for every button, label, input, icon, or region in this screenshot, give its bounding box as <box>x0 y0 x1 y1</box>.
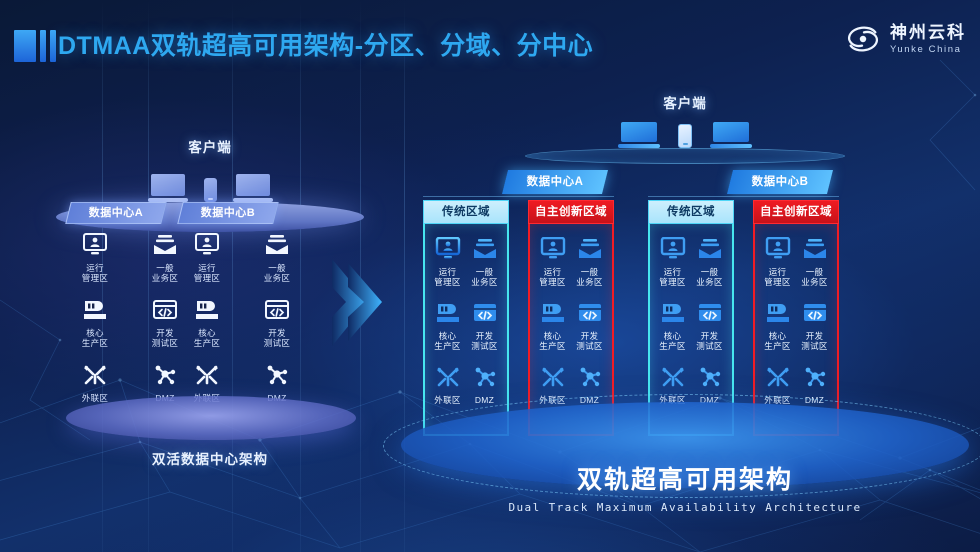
zone-label-line1: 核心 <box>86 328 104 338</box>
caption-en: Dual Track Maximum Availability Architec… <box>395 501 975 514</box>
caption-cn: 双轨超高可用架构 <box>395 460 975 496</box>
zone-label-line1: 开发 <box>476 331 494 341</box>
document-tray-icon <box>466 234 503 264</box>
phone-icon <box>678 124 692 148</box>
right-client-label: 客户端 <box>395 92 975 112</box>
zone-label-line2: 管理区 <box>659 277 685 287</box>
datacenter-b-bracket <box>648 196 839 197</box>
zone-item[interactable]: 核心生产区 <box>172 295 242 348</box>
zone-label-line1: 核心 <box>769 331 787 341</box>
zone-label-line2: 业务区 <box>801 277 827 287</box>
zone-label-line2: 生产区 <box>434 341 460 351</box>
zone-label-line2: 生产区 <box>539 341 565 351</box>
left-datacenter-badge-b-label: 数据中心B <box>181 203 275 223</box>
zone-item[interactable]: 核心生产区 <box>759 298 796 351</box>
zone-label-line1: 一般 <box>806 267 824 277</box>
zone-item[interactable]: 开发测试区 <box>691 298 728 351</box>
molecule-dmz-icon <box>796 362 833 392</box>
molecule-dmz-icon <box>571 362 608 392</box>
laptop-icon <box>618 122 660 148</box>
zone-label-line2: 测试区 <box>471 341 497 351</box>
zone-label-line1: 核心 <box>439 331 457 341</box>
zone-label-line2: 测试区 <box>264 338 290 348</box>
zone-label-line1: 外联区 <box>82 393 108 403</box>
molecule-dmz-icon <box>242 360 312 390</box>
zone-label-line1: 一般 <box>268 263 286 273</box>
zone-item[interactable]: 运行管理区 <box>172 230 242 283</box>
zone-item[interactable]: DMZ <box>466 362 503 405</box>
phone-icon <box>204 178 217 202</box>
zone-label-line1: 运行 <box>544 267 562 277</box>
server-core-icon <box>759 298 796 328</box>
zone-label-line1: 核心 <box>664 331 682 341</box>
zone-item[interactable]: 运行管理区 <box>534 234 571 287</box>
panel-traditional-dc-a[interactable]: 传统区域 运行管理区 一般业务区 <box>423 200 509 436</box>
zone-item[interactable]: 外联区 <box>60 360 130 403</box>
zone-label-line2: 业务区 <box>576 277 602 287</box>
network-link-icon <box>60 360 130 390</box>
zone-label-line1: 运行 <box>198 263 216 273</box>
right-datacenter-badge-a[interactable]: 数据中心A <box>505 170 605 194</box>
monitor-user-icon <box>172 230 242 260</box>
zone-item[interactable]: 运行管理区 <box>759 234 796 287</box>
zone-label-line2: 测试区 <box>696 341 722 351</box>
zone-label-line1: DMZ <box>475 395 494 405</box>
zone-label-line1: 核心 <box>544 331 562 341</box>
server-core-icon <box>172 295 242 325</box>
zone-label-line1: 开发 <box>806 331 824 341</box>
datacenter-a-bracket <box>423 196 614 197</box>
right-client-platform-ellipse <box>525 148 845 164</box>
network-link-icon <box>429 362 466 392</box>
page-title: DTMAA双轨超高可用架构-分区、分域、分中心 <box>58 26 593 62</box>
left-datacenter-badges: 数据中心A 数据中心B <box>60 202 360 226</box>
panel-title: 传统区域 <box>423 200 509 224</box>
zone-label-line1: 运行 <box>769 267 787 277</box>
code-window-icon <box>691 298 728 328</box>
document-tray-icon <box>691 234 728 264</box>
monitor-user-icon <box>654 234 691 264</box>
zone-item[interactable]: 一般业务区 <box>466 234 503 287</box>
code-window-icon <box>242 295 312 325</box>
zone-label-line2: 管理区 <box>764 277 790 287</box>
zone-label-line2: 管理区 <box>194 273 220 283</box>
code-window-icon <box>796 298 833 328</box>
zone-item[interactable]: 开发测试区 <box>242 295 312 348</box>
zone-item[interactable]: 核心生产区 <box>654 298 691 351</box>
logo-name-en: Yunke China <box>890 45 966 55</box>
zone-label-line2: 业务区 <box>696 277 722 287</box>
molecule-dmz-icon <box>466 362 503 392</box>
monitor-user-icon <box>759 234 796 264</box>
slide-header: DTMAA双轨超高可用架构-分区、分域、分中心 神州云科 Yunke China <box>0 0 980 86</box>
server-core-icon <box>60 295 130 325</box>
zone-item[interactable]: 开发测试区 <box>466 298 503 351</box>
network-link-icon <box>759 362 796 392</box>
left-datacenter-badge-a-label: 数据中心A <box>69 203 163 223</box>
zone-label-line1: 开发 <box>581 331 599 341</box>
monitor-user-icon <box>60 230 130 260</box>
server-core-icon <box>654 298 691 328</box>
zone-item[interactable]: 外联区 <box>429 362 466 405</box>
zone-label-line2: 生产区 <box>659 341 685 351</box>
server-core-icon <box>429 298 466 328</box>
code-window-icon <box>466 298 503 328</box>
zone-label-line1: 外联区 <box>434 395 460 405</box>
laptop-icon <box>148 174 188 202</box>
zone-item[interactable]: 一般业务区 <box>242 230 312 283</box>
right-diagram-caption: 双轨超高可用架构 Dual Track Maximum Availability… <box>395 460 975 514</box>
zone-item[interactable]: 运行管理区 <box>429 234 466 287</box>
zone-item[interactable]: 一般业务区 <box>571 234 608 287</box>
network-link-icon <box>654 362 691 392</box>
dtmaa-architecture-diagram: 客户端 数据中心A 数据中心B 传统区域 <box>395 82 975 542</box>
zone-item[interactable]: 运行管理区 <box>60 230 130 283</box>
code-window-icon <box>571 298 608 328</box>
network-link-icon <box>534 362 571 392</box>
laptop-icon <box>710 122 752 148</box>
slide-canvas: DTMAA双轨超高可用架构-分区、分域、分中心 神州云科 Yunke China… <box>0 0 980 552</box>
zone-label-line1: 一般 <box>701 267 719 277</box>
zone-label-line1: 一般 <box>476 267 494 277</box>
zone-label-line1: 运行 <box>439 267 457 277</box>
zone-label-line2: 业务区 <box>264 273 290 283</box>
monitor-user-icon <box>534 234 571 264</box>
brand-logo: 神州云科 Yunke China <box>844 20 966 58</box>
zone-label-line2: 业务区 <box>471 277 497 287</box>
left-datacenter-badge-b[interactable]: 数据中心B <box>177 202 278 224</box>
right-datacenter-badge-a-label: 数据中心A <box>505 170 605 194</box>
zone-label-line1: 核心 <box>198 328 216 338</box>
server-core-icon <box>534 298 571 328</box>
panel-title: 传统区域 <box>648 200 734 224</box>
zone-label-line2: 生产区 <box>82 338 108 348</box>
left-client-devices <box>60 162 360 202</box>
left-client-label: 客户端 <box>60 136 360 156</box>
chevron-right-icon <box>326 255 386 350</box>
logo-name-cn: 神州云科 <box>890 24 966 41</box>
zone-label-line1: 开发 <box>268 328 286 338</box>
laptop-icon <box>233 174 273 202</box>
document-tray-icon <box>571 234 608 264</box>
zone-item[interactable]: 一般业务区 <box>691 234 728 287</box>
panel-title: 自主创新区域 <box>528 200 614 224</box>
header-accent-bars-icon <box>14 30 56 62</box>
zone-item[interactable]: 开发测试区 <box>571 298 608 351</box>
galaxy-swirl-icon <box>844 20 882 58</box>
zone-label-line2: 管理区 <box>82 273 108 283</box>
zone-item[interactable]: 核心生产区 <box>429 298 466 351</box>
zone-label-line2: 测试区 <box>801 341 827 351</box>
zone-label-line2: 测试区 <box>576 341 602 351</box>
document-tray-icon <box>242 230 312 260</box>
left-diagram-caption: 双活数据中心架构 <box>60 448 360 468</box>
network-link-icon <box>172 360 242 390</box>
monitor-user-icon <box>429 234 466 264</box>
molecule-dmz-icon <box>691 362 728 392</box>
zone-item[interactable]: 核心生产区 <box>60 295 130 348</box>
zone-label-line2: 管理区 <box>539 277 565 287</box>
left-datacenter-badge-a[interactable]: 数据中心A <box>65 202 166 224</box>
zone-label-line1: 一般 <box>581 267 599 277</box>
right-client-devices <box>395 114 975 148</box>
zone-label-line1: 运行 <box>86 263 104 273</box>
panel-title: 自主创新区域 <box>753 200 839 224</box>
legacy-architecture-diagram: 客户端 数据中心A 数据中心B 运行管理区 <box>60 110 360 470</box>
zone-label-line2: 生产区 <box>194 338 220 348</box>
zone-label-line2: 管理区 <box>434 277 460 287</box>
left-base-disc <box>66 396 356 440</box>
zone-item[interactable]: 运行管理区 <box>654 234 691 287</box>
zone-label-line1: 开发 <box>701 331 719 341</box>
document-tray-icon <box>796 234 833 264</box>
zone-label-line1: 运行 <box>664 267 682 277</box>
right-datacenter-badge-b-label: 数据中心B <box>730 170 830 194</box>
zone-label-line2: 生产区 <box>764 341 790 351</box>
zone-item[interactable]: 核心生产区 <box>534 298 571 351</box>
right-datacenter-badge-b[interactable]: 数据中心B <box>730 170 830 194</box>
zone-item[interactable]: 开发测试区 <box>796 298 833 351</box>
zone-item[interactable]: 一般业务区 <box>796 234 833 287</box>
